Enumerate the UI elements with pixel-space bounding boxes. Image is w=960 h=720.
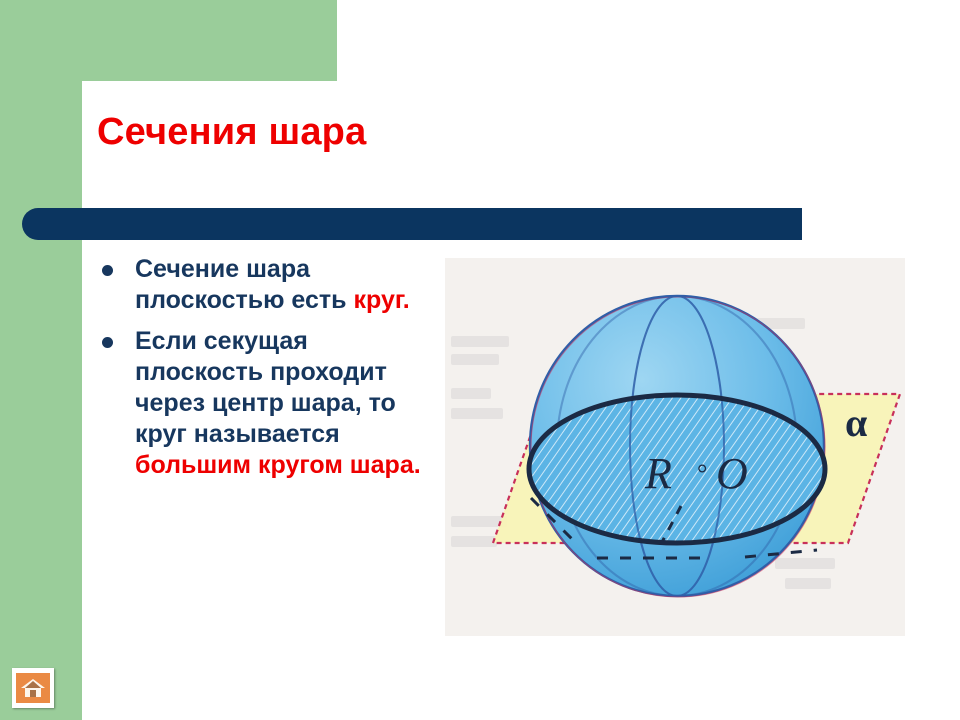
bullet-text-emphasis: большим кругом шара. [135, 451, 421, 479]
title-accent-bar [22, 208, 802, 240]
list-item: Если секущая плоскость проходит через це… [96, 326, 436, 481]
label-center: O [716, 449, 748, 498]
bullet-list: Сечение шара плоскостью есть круг. Если … [96, 254, 436, 491]
slide-root: Сечения шара Сечение шара плоскостью ест… [0, 0, 960, 720]
bullet-text-plain: Если секущая плоскость проходит через це… [135, 327, 396, 448]
label-radius: R [644, 449, 672, 498]
sphere-cross-section-figure: R ° O α [445, 258, 905, 636]
page-title: Сечения шара [97, 112, 737, 154]
list-item: Сечение шара плоскостью есть круг. [96, 254, 436, 316]
home-button[interactable] [12, 668, 54, 708]
decor-green-top-block [0, 0, 337, 81]
bullet-dot-icon [102, 265, 113, 276]
bullet-text-emphasis: круг. [353, 286, 409, 314]
home-icon [16, 673, 50, 703]
label-center-marker: ° [697, 459, 707, 488]
bullet-text-plain: Сечение шара плоскостью есть [135, 255, 353, 314]
bullet-dot-icon [102, 337, 113, 348]
label-plane-alpha: α [845, 400, 867, 445]
decor-green-left-column [0, 0, 82, 720]
